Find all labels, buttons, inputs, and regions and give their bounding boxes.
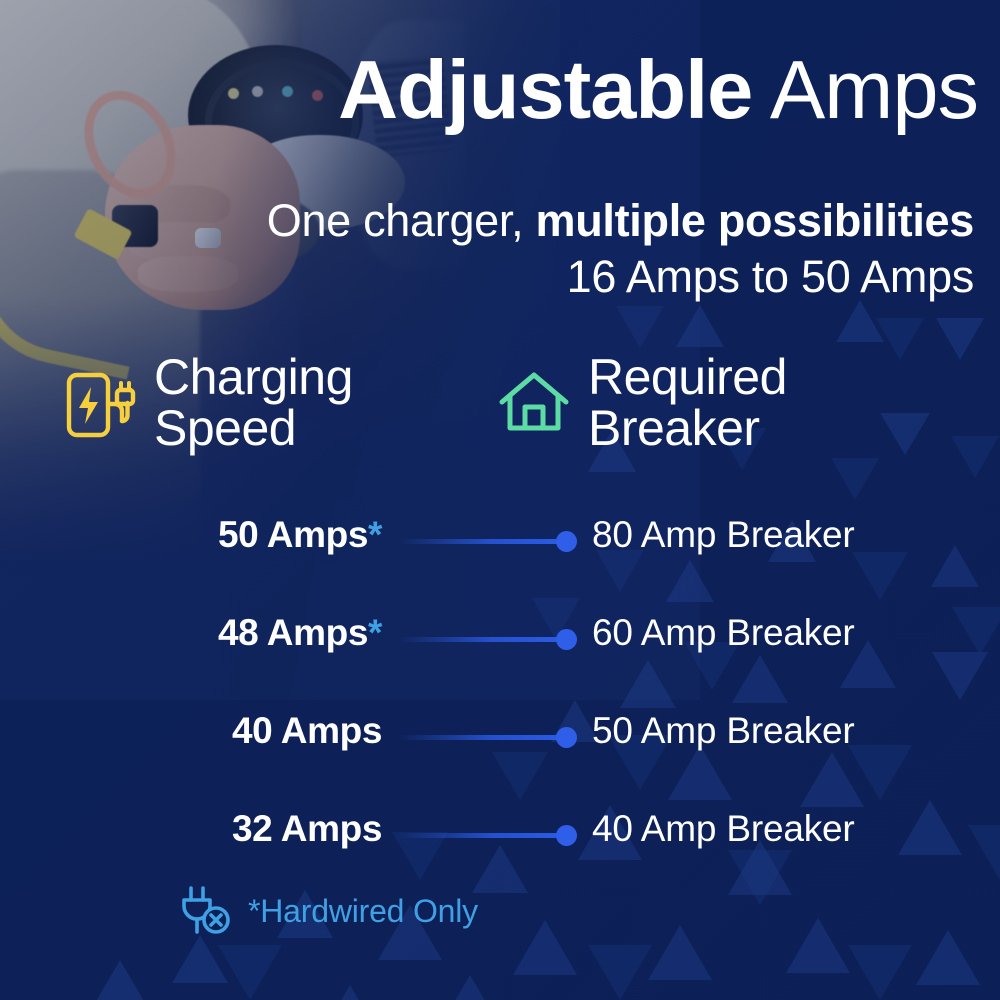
column-header-required-breaker-label: Required Breaker <box>588 352 787 454</box>
amp-breaker-table: 50 Amps* 80 Amp Breaker 48 Amps* 60 Amp … <box>0 505 1000 897</box>
row-required-breaker: 60 Amp Breaker <box>592 612 855 654</box>
row-connector-line <box>398 735 568 740</box>
row-speed-value: 50 Amps <box>218 514 368 555</box>
row-speed-value: 48 Amps <box>218 612 368 653</box>
footnote: *Hardwired Only <box>178 882 478 941</box>
row-connector-line <box>398 539 568 544</box>
column-header-required-breaker: Required Breaker <box>498 352 787 454</box>
row-required-breaker: 40 Amp Breaker <box>592 808 855 850</box>
charging-speed-line2: Speed <box>154 400 296 456</box>
row-speed-value: 40 Amps <box>232 710 382 751</box>
page-title-bold: Adjustable <box>338 43 752 136</box>
table-row: 48 Amps* 60 Amp Breaker <box>0 603 1000 701</box>
infographic-content: Adjustable Amps One charger, multiple po… <box>0 0 1000 1000</box>
column-header-charging-speed-label: Charging Speed <box>154 352 353 454</box>
row-asterisk: * <box>368 514 382 555</box>
column-headers: Charging Speed Required Breaker <box>0 352 1000 472</box>
row-required-breaker: 80 Amp Breaker <box>592 514 855 556</box>
house-icon <box>498 370 570 441</box>
table-row: 32 Amps 40 Amp Breaker <box>0 799 1000 897</box>
row-asterisk: * <box>368 612 382 653</box>
row-connector-dot <box>556 727 577 748</box>
row-connector-dot <box>556 825 577 846</box>
page-title-regular: Amps <box>752 43 978 136</box>
row-connector-line <box>398 637 568 642</box>
subtitle-line-2: 16 Amps to 50 Amps <box>0 252 974 302</box>
charging-speed-line1: Charging <box>154 349 353 405</box>
table-row: 40 Amps 50 Amp Breaker <box>0 701 1000 799</box>
subtitle-regular-part: One charger, <box>267 195 536 246</box>
infographic-canvas: Adjustable Amps One charger, multiple po… <box>0 0 1000 1000</box>
subtitle-bold-part: multiple possibilities <box>536 195 974 246</box>
required-breaker-line1: Required <box>588 349 787 405</box>
row-charging-speed: 50 Amps* <box>218 514 382 556</box>
row-speed-value: 32 Amps <box>232 808 382 849</box>
row-charging-speed: 40 Amps <box>232 710 382 752</box>
required-breaker-line2: Breaker <box>588 400 760 456</box>
row-connector-dot <box>556 629 577 650</box>
table-row: 50 Amps* 80 Amp Breaker <box>0 505 1000 603</box>
subtitle-line-1: One charger, multiple possibilities <box>0 196 974 246</box>
ev-charging-station-icon <box>62 370 136 447</box>
row-charging-speed: 32 Amps <box>232 808 382 850</box>
footnote-text: *Hardwired Only <box>248 893 478 930</box>
no-plug-icon <box>178 882 234 941</box>
row-connector-dot <box>556 531 577 552</box>
row-connector-line <box>398 833 568 838</box>
page-title: Adjustable Amps <box>0 48 978 131</box>
row-required-breaker: 50 Amp Breaker <box>592 710 855 752</box>
row-charging-speed: 48 Amps* <box>218 612 382 654</box>
column-header-charging-speed: Charging Speed <box>62 352 353 454</box>
